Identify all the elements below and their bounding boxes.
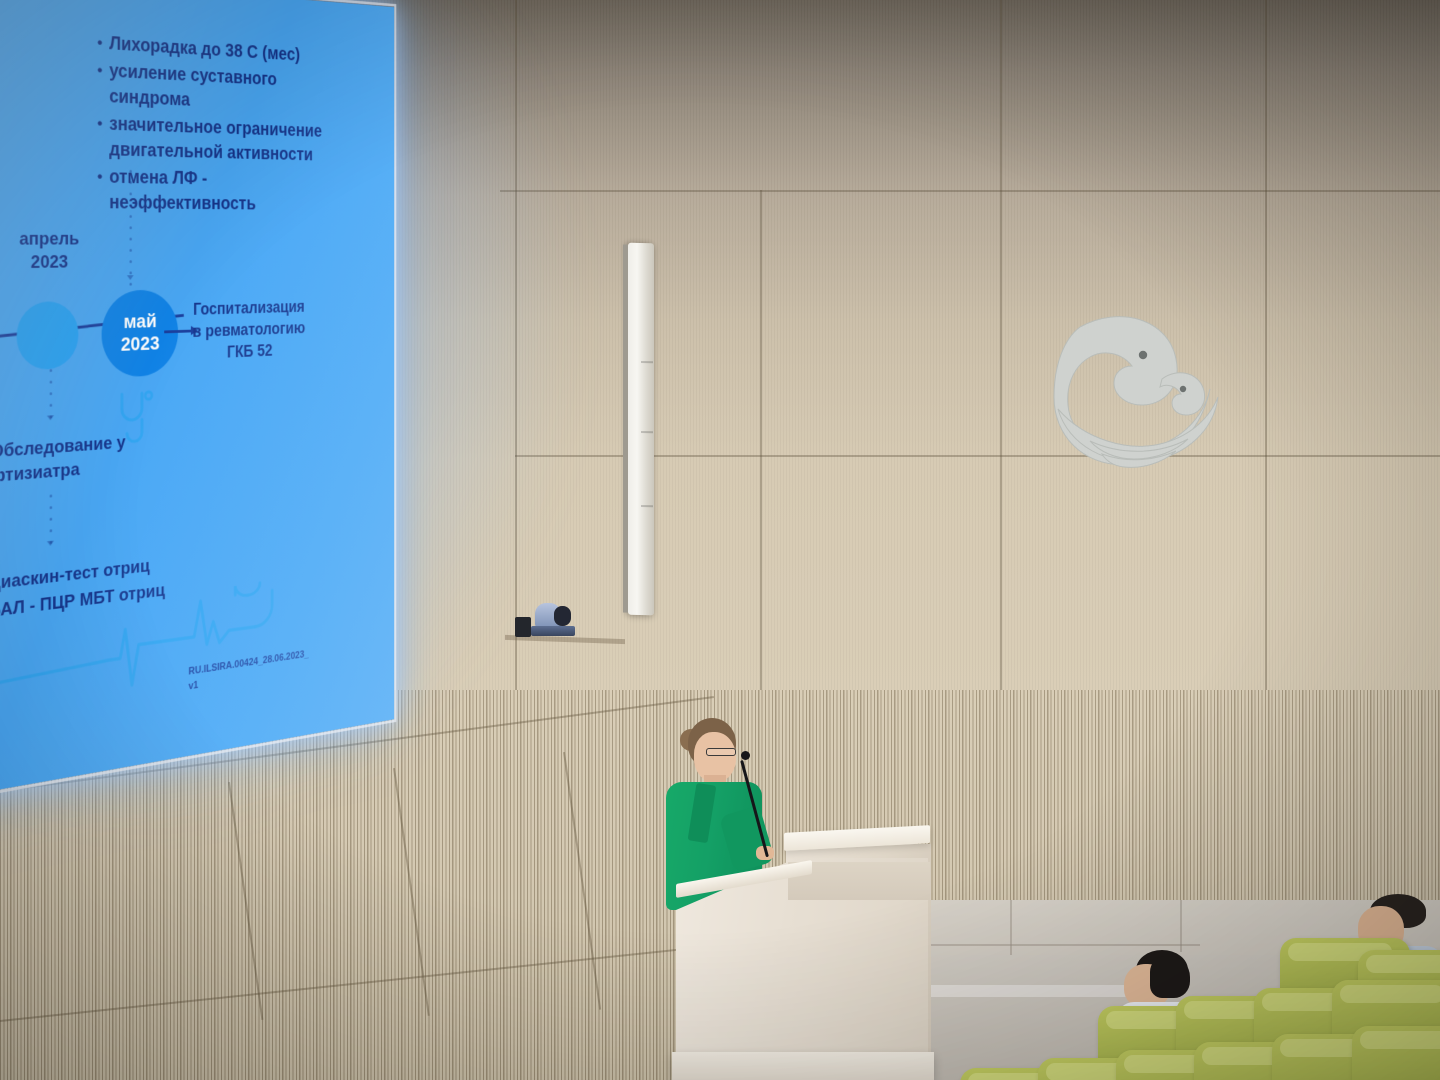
- projection-screen: ЛУ, макс до полнена ГХ в НМИЦ данных за …: [0, 0, 394, 800]
- node-month: май: [124, 310, 157, 334]
- wall-seam: [500, 190, 1440, 192]
- slide-bullets-left: ЛУ, макс до полнена ГХ в НМИЦ данных за …: [0, 21, 95, 200]
- bullet-dot-icon: •: [97, 164, 102, 215]
- bullet-dot-icon: •: [97, 58, 102, 110]
- slide-bullets-right: • Лихорадка до 38 С (мес) • усиление сус…: [97, 30, 333, 218]
- ptz-camera: [527, 601, 579, 641]
- timeline-label-b: апрель 2023: [7, 228, 92, 275]
- bullet-text: нено: [0, 169, 95, 201]
- auditorium-seating: [980, 900, 1440, 1080]
- seat-highlight: [1360, 1031, 1440, 1049]
- seat-highlight: [1366, 955, 1440, 973]
- bullet-text: значительное ограничение двигательной ак…: [109, 112, 334, 168]
- sub-bullet-block: • Обследование у фтизиатра: [0, 430, 144, 492]
- podium: [676, 820, 928, 1080]
- seat[interactable]: [1352, 1026, 1440, 1080]
- list-item: • Обследование у фтизиатра: [0, 430, 144, 490]
- outcome-line: ГКБ 52: [191, 339, 307, 365]
- auditorium-scene: ЛУ, макс до полнена ГХ в НМИЦ данных за …: [0, 0, 1440, 1080]
- bullet-dot-icon: •: [97, 111, 102, 162]
- bullet-text: ЛУ, макс до: [0, 21, 95, 62]
- list-item: • значительное ограничение двигательной …: [97, 111, 333, 168]
- label-year: 2023: [7, 251, 92, 275]
- line-array-speaker: [628, 243, 654, 616]
- wall-seam: [1265, 0, 1267, 700]
- bullet-text: Обследование у фтизиатра: [0, 430, 144, 489]
- caret-icon: [47, 541, 54, 547]
- list-item: • отмена ЛФ - неэффективность: [97, 164, 333, 217]
- hair-back: [1150, 956, 1190, 998]
- speaker-seam: [641, 431, 653, 433]
- glasses-icon: [706, 748, 736, 756]
- camera-lens-icon: [554, 606, 571, 626]
- timeline-outcome: Госпитализация в ревматологию ГКБ 52: [191, 297, 307, 365]
- chick-eye-icon: [1180, 386, 1186, 392]
- caret-icon: [47, 415, 54, 420]
- speaker-seam: [641, 505, 653, 507]
- bird-eye-icon: [1139, 351, 1147, 359]
- bullet-dot-icon: •: [97, 30, 102, 56]
- node-year: 2023: [121, 333, 160, 357]
- bullet-text: отмена ЛФ - неэффективность: [109, 165, 334, 217]
- seat-highlight: [1340, 985, 1440, 1003]
- camera-base: [531, 626, 575, 636]
- speaker-seam: [641, 361, 653, 363]
- caret-icon: [127, 275, 134, 280]
- microphone-capsule-icon: [741, 751, 750, 760]
- camera-mount: [515, 617, 531, 637]
- slide-content: ЛУ, макс до полнена ГХ в НМИЦ данных за …: [0, 0, 394, 800]
- label-month: апрель: [7, 228, 92, 251]
- podium-base: [672, 1052, 934, 1080]
- timeline-node-b: [17, 301, 79, 371]
- wall-seam: [760, 190, 762, 700]
- mother-and-child-bird-emblem: [1050, 313, 1225, 473]
- outcome-line: в ревматологию: [191, 318, 307, 343]
- wall-seam: [1000, 0, 1002, 700]
- bullet-text: ологию не: [0, 139, 95, 173]
- timeline-node-c: май 2023: [102, 289, 178, 378]
